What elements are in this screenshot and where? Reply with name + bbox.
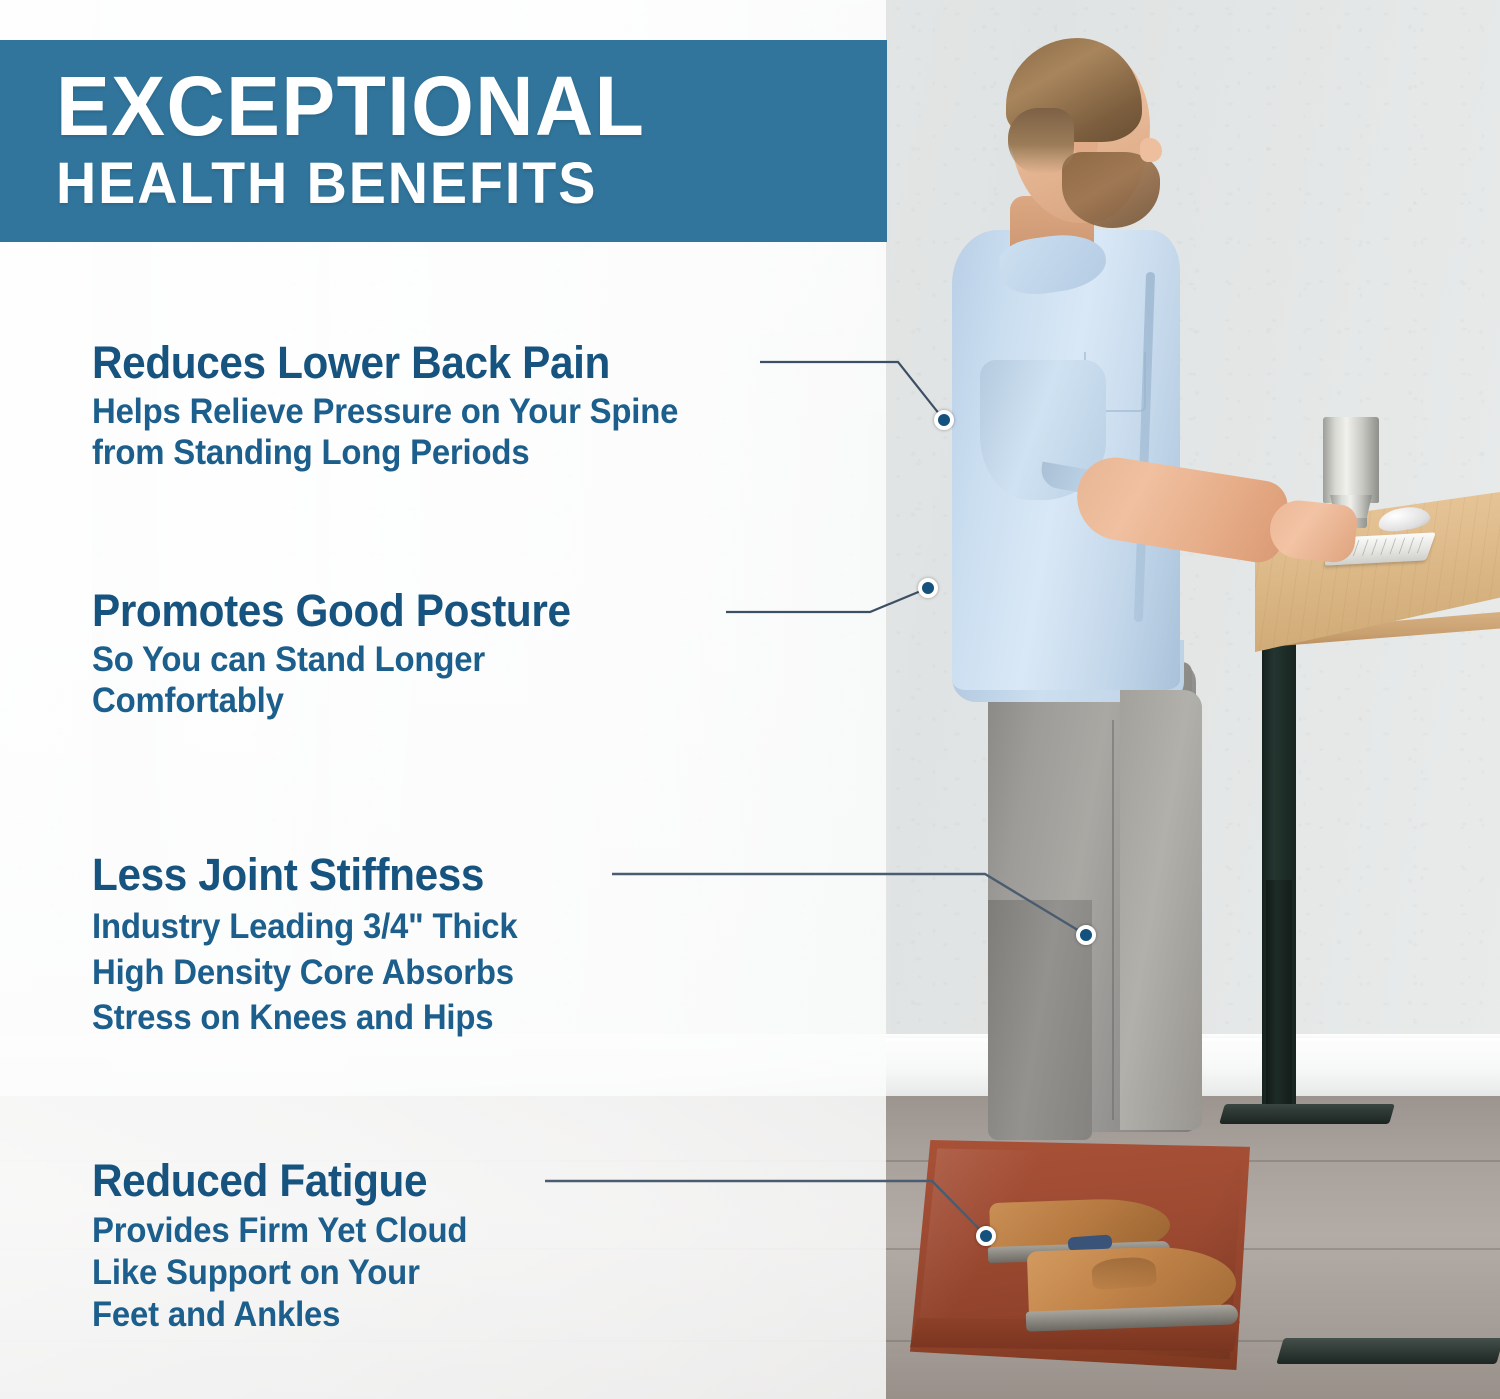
benefit-body-line: Industry Leading 3/4" Thick: [92, 904, 518, 950]
callout-dot-posture: [918, 578, 938, 598]
benefit-title: Reduces Lower Back Pain: [92, 340, 678, 385]
pants-front-overlay: [1120, 690, 1202, 1110]
header-banner: EXCEPTIONAL HEALTH BENEFITS: [0, 40, 887, 242]
callout-dot-back: [934, 410, 954, 430]
benefit-title: Less Joint Stiffness: [92, 852, 518, 897]
benefit-body-line: Like Support on Your: [92, 1252, 467, 1294]
benefit-body: Industry Leading 3/4" Thick High Density…: [92, 904, 518, 1041]
benefit-body-line: So You can Stand Longer: [92, 640, 571, 681]
benefit-title: Promotes Good Posture: [92, 588, 571, 633]
benefit-promotes-good-posture: Promotes Good Posture So You can Stand L…: [92, 588, 601, 721]
benefit-reduced-fatigue: Reduced Fatigue Provides Firm Yet Cloud …: [92, 1158, 491, 1336]
hair-fade: [1008, 108, 1074, 174]
benefit-reduces-lower-back-pain: Reduces Lower Back Pain Helps Relieve Pr…: [92, 340, 716, 473]
callout-dot-knee: [1076, 925, 1096, 945]
benefit-body-line: Feet and Ankles: [92, 1294, 467, 1336]
desk-foot-rear: [1219, 1104, 1395, 1124]
desk-leg-lower: [1266, 880, 1292, 1112]
stainless-tumbler: [1323, 417, 1379, 503]
benefit-body-line: Helps Relieve Pressure on Your Spine: [92, 392, 678, 433]
benefit-body: Provides Firm Yet Cloud Like Support on …: [92, 1210, 467, 1336]
shoe-laces-overlay: [1091, 1256, 1157, 1290]
benefit-less-joint-stiffness: Less Joint Stiffness Industry Leading 3/…: [92, 852, 545, 1041]
pants-crease: [1112, 720, 1114, 1120]
desk-foot-front: [1276, 1338, 1500, 1364]
health-benefits-infographic: EXCEPTIONAL HEALTH BENEFITS Reduces Lowe…: [0, 0, 1500, 1399]
benefit-body-line: Stress on Knees and Hips: [92, 995, 518, 1041]
benefit-title: Reduced Fatigue: [92, 1158, 467, 1203]
benefit-body-line: Comfortably: [92, 681, 571, 722]
callout-dot-mat: [976, 1226, 996, 1246]
benefit-body: So You can Stand Longer Comfortably: [92, 640, 571, 721]
banner-title-line1: EXCEPTIONAL: [56, 68, 854, 145]
benefit-body-line: from Standing Long Periods: [92, 433, 678, 474]
nose: [1140, 138, 1162, 162]
benefit-body-line: High Density Core Absorbs: [92, 950, 518, 996]
banner-title-line2: HEALTH BENEFITS: [56, 153, 854, 214]
benefit-body: Helps Relieve Pressure on Your Spine fro…: [92, 392, 678, 473]
benefit-body-line: Provides Firm Yet Cloud: [92, 1210, 467, 1252]
